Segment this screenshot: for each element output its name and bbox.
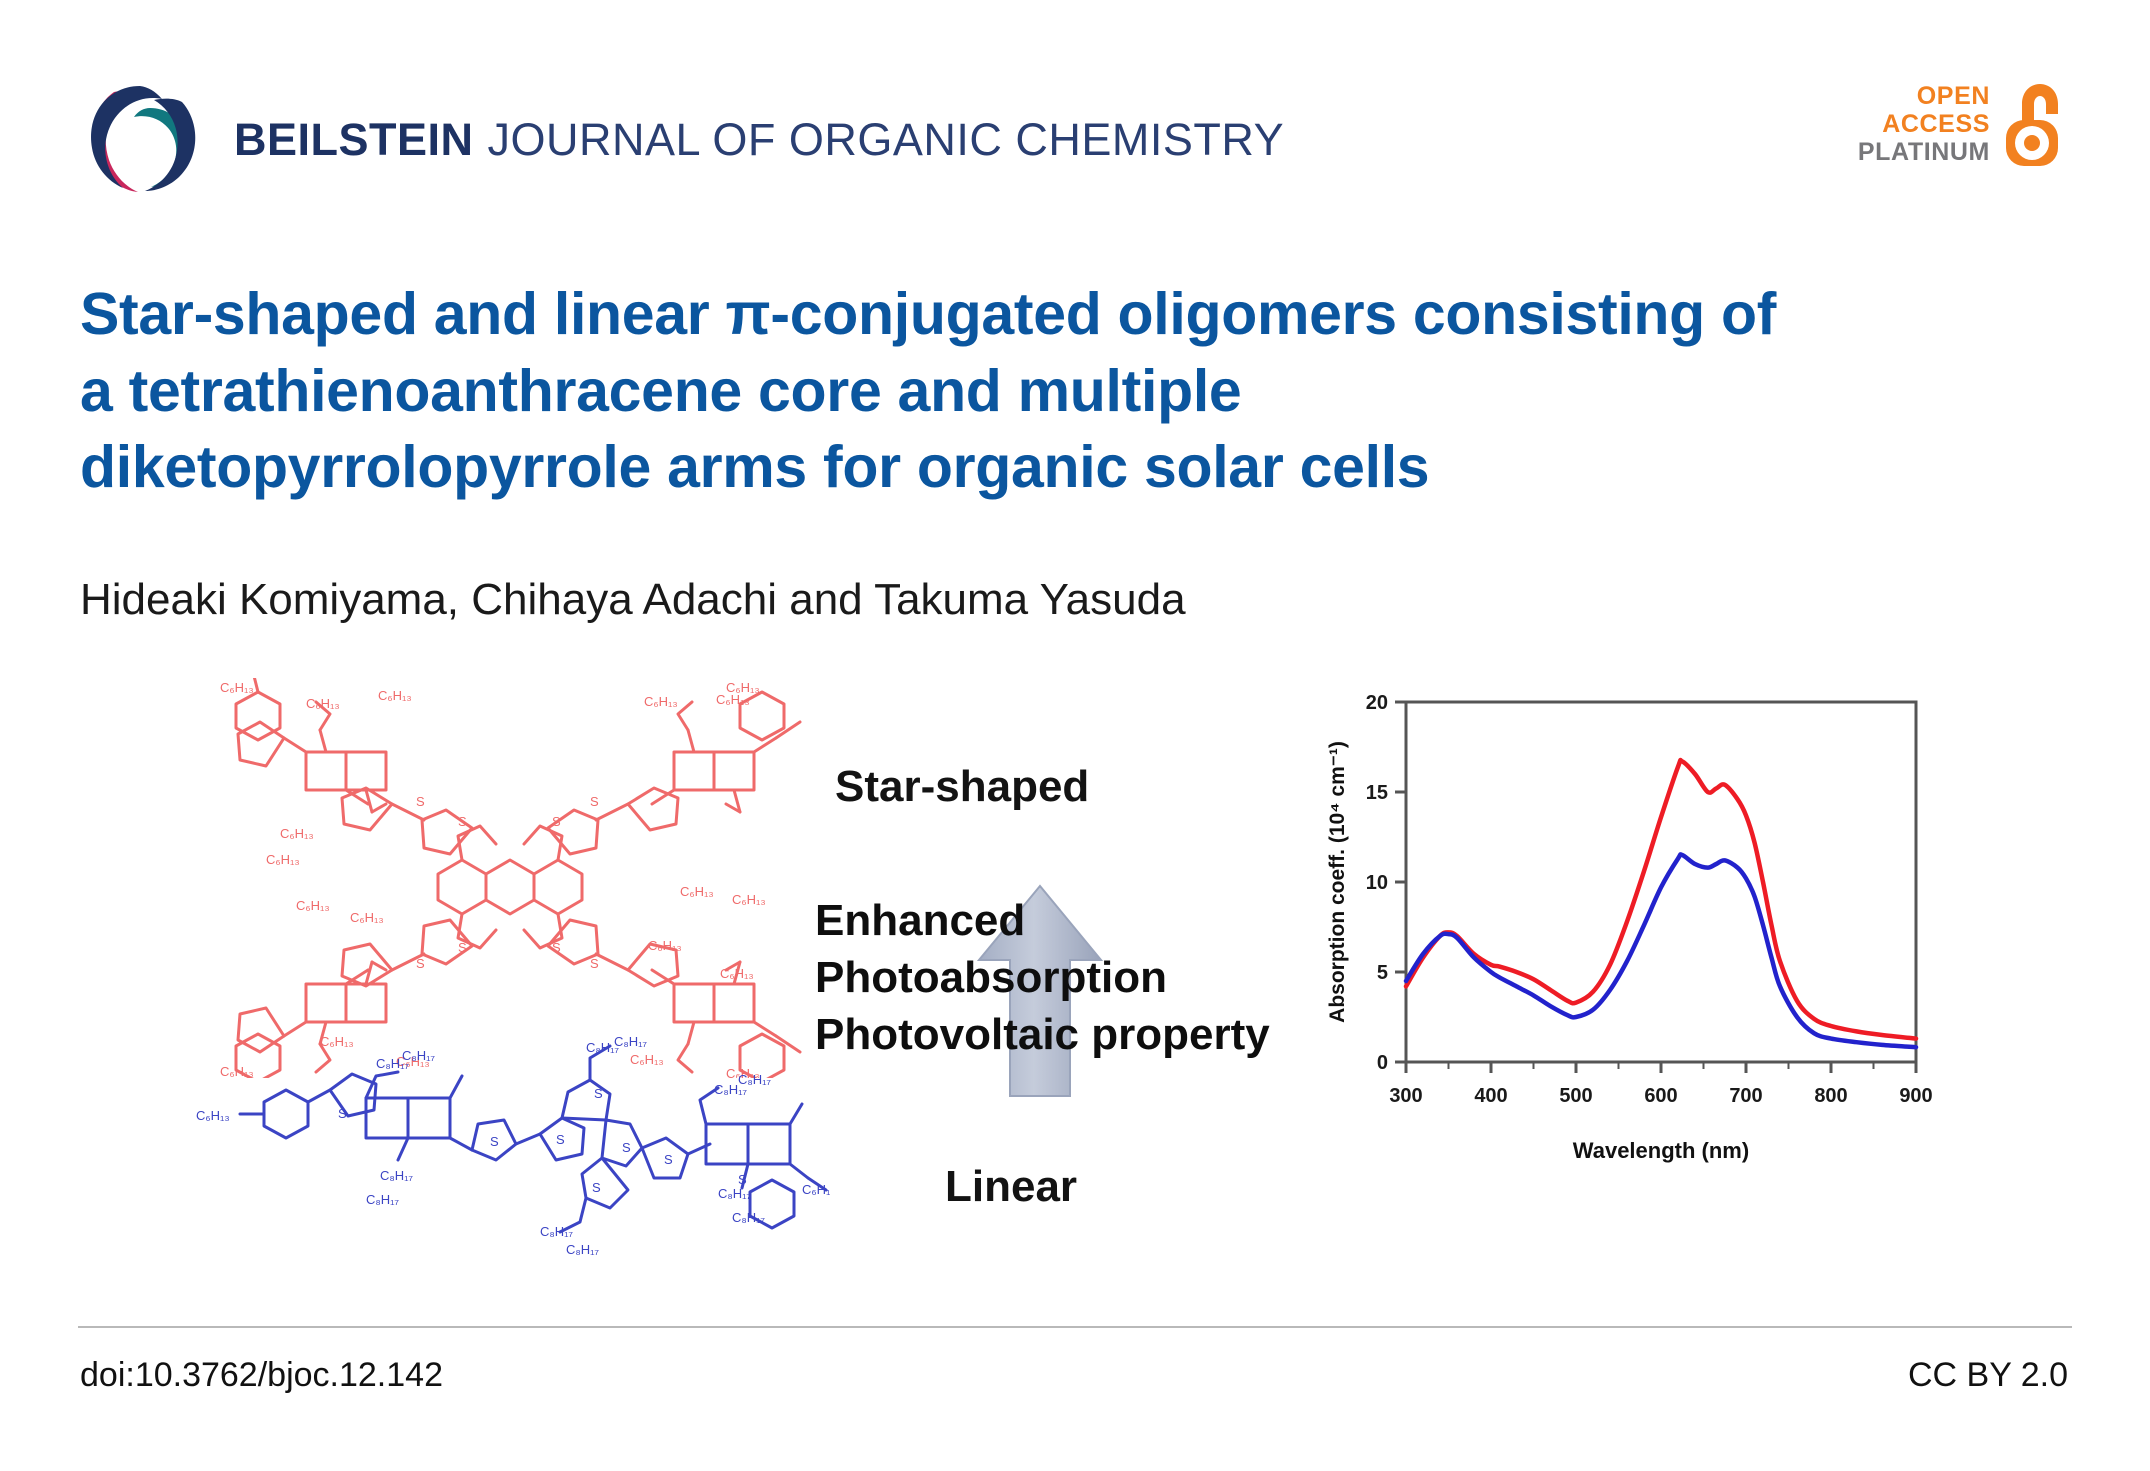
beilstein-logo-icon xyxy=(78,78,206,202)
label-linear: Linear xyxy=(945,1162,1077,1212)
open-access-badge: OPEN ACCESS PLATINUM xyxy=(1858,78,2068,170)
benefit-line-1: Enhanced xyxy=(815,892,1335,949)
svg-text:S: S xyxy=(556,1132,565,1147)
svg-text:C₆H₁₃: C₆H₁₃ xyxy=(378,688,412,703)
molecule-structures-panel: C₆H₁₃C₆H₁₃ C₆H₁₃C₆H₁₃ C₆H₁₃C₆H₁₃ C₆H₁₃C₆… xyxy=(190,672,830,1272)
svg-text:C₆H₁₃: C₆H₁₃ xyxy=(350,910,384,925)
svg-text:S: S xyxy=(622,1140,631,1155)
svg-text:0: 0 xyxy=(1377,1052,1388,1074)
svg-text:S: S xyxy=(664,1152,673,1167)
svg-text:S: S xyxy=(552,814,561,829)
svg-text:C₈H₁₇: C₈H₁₇ xyxy=(614,1034,648,1049)
svg-text:400: 400 xyxy=(1474,1085,1507,1107)
open-access-label-group: OPEN ACCESS PLATINUM xyxy=(1858,82,1990,166)
svg-text:600: 600 xyxy=(1644,1085,1677,1107)
svg-text:C₈H₁₇: C₈H₁₇ xyxy=(732,1210,766,1225)
concept-callout-panel: Star-shaped Enhanced Photoabsorption Pho… xyxy=(820,762,1330,1232)
page-title: Star-shaped and linear π-conjugated olig… xyxy=(80,276,1800,506)
chart-svg: 30040050060070080090005101520 Wavelength… xyxy=(1316,662,1956,1202)
journal-name-light: JOURNAL OF ORGANIC CHEMISTRY xyxy=(488,114,1285,166)
svg-text:S: S xyxy=(738,1172,747,1187)
svg-text:C₆H₁₃: C₆H₁₃ xyxy=(220,680,254,695)
svg-text:S: S xyxy=(552,940,561,955)
svg-text:C₈H₁₇: C₈H₁₇ xyxy=(366,1192,400,1207)
star-shaped-molecule-diagram: C₆H₁₃C₆H₁₃ C₆H₁₃C₆H₁₃ C₆H₁₃C₆H₁₃ C₆H₁₃C₆… xyxy=(210,678,810,1078)
license-text: CC BY 2.0 xyxy=(1908,1356,2068,1395)
svg-text:C₈H₁₇: C₈H₁₇ xyxy=(566,1242,600,1257)
svg-text:S: S xyxy=(592,1180,601,1195)
journal-title-text: BEILSTEIN JOURNAL OF ORGANIC CHEMISTRY xyxy=(234,114,1284,166)
svg-text:10: 10 xyxy=(1366,872,1388,894)
svg-text:300: 300 xyxy=(1389,1085,1422,1107)
svg-text:S: S xyxy=(590,956,599,971)
open-access-line-open: OPEN xyxy=(1917,82,1990,110)
footer-divider xyxy=(78,1326,2072,1328)
svg-text:900: 900 xyxy=(1899,1085,1932,1107)
benefit-line-2: Photoabsorption xyxy=(815,949,1335,1006)
svg-text:C₆H₁₃: C₆H₁₃ xyxy=(720,966,754,981)
svg-text:C₆H₁₃: C₆H₁₃ xyxy=(306,696,340,711)
benefit-line-3: Photovoltaic property xyxy=(815,1006,1335,1063)
absorption-spectrum-chart: 30040050060070080090005101520 Wavelength… xyxy=(1316,662,1956,1202)
benefit-text-block: Enhanced Photoabsorption Photovoltaic pr… xyxy=(815,892,1335,1064)
svg-text:15: 15 xyxy=(1366,782,1388,804)
author-list: Hideaki Komiyama, Chihaya Adachi and Tak… xyxy=(80,575,1186,625)
svg-text:5: 5 xyxy=(1377,962,1388,984)
svg-text:S: S xyxy=(458,814,467,829)
svg-text:700: 700 xyxy=(1729,1085,1762,1107)
graphical-abstract-page: BEILSTEIN JOURNAL OF ORGANIC CHEMISTRY O… xyxy=(0,0,2150,1471)
svg-text:C₆H₁₃: C₆H₁₃ xyxy=(680,884,714,899)
svg-text:C₈H₁₇: C₈H₁₇ xyxy=(402,1048,436,1063)
svg-text:C₆H₁₃: C₆H₁₃ xyxy=(648,938,682,953)
svg-text:800: 800 xyxy=(1814,1085,1847,1107)
svg-text:S: S xyxy=(416,794,425,809)
svg-text:C₆H₁₃: C₆H₁₃ xyxy=(296,898,330,913)
svg-text:C₈H₁₇: C₈H₁₇ xyxy=(540,1224,574,1239)
svg-text:C₆H₁₃: C₆H₁₃ xyxy=(280,826,314,841)
doi-text: doi:10.3762/bjoc.12.142 xyxy=(80,1356,443,1395)
open-access-line-platinum: PLATINUM xyxy=(1858,138,1990,166)
svg-text:C₆H₁₃: C₆H₁₃ xyxy=(716,692,750,707)
plot-border xyxy=(1406,702,1916,1062)
svg-text:S: S xyxy=(338,1106,347,1121)
svg-text:20: 20 xyxy=(1366,692,1388,714)
journal-name-bold: BEILSTEIN xyxy=(234,114,474,166)
linear-molecule-diagram: C₆H₁₃C₈H₁₇ C₈H₁₇C₈H₁₇ C₈H₁₇C₈H₁₇ C₈H₁₇C₈… xyxy=(190,1032,830,1257)
y-axis-label: Absorption coeff. (10⁴ cm⁻¹) xyxy=(1326,741,1349,1023)
svg-text:C₆H₁₃: C₆H₁₃ xyxy=(266,852,300,867)
graphical-abstract-figure: C₆H₁₃C₆H₁₃ C₆H₁₃C₆H₁₃ C₆H₁₃C₆H₁₃ C₆H₁₃C₆… xyxy=(0,672,2150,1272)
svg-text:S: S xyxy=(416,956,425,971)
svg-text:C₈H₁₇: C₈H₁₇ xyxy=(738,1072,772,1087)
svg-text:S: S xyxy=(594,1086,603,1101)
svg-text:S: S xyxy=(458,940,467,955)
svg-text:S: S xyxy=(490,1134,499,1149)
svg-text:500: 500 xyxy=(1559,1085,1592,1107)
svg-text:C₈H₁₇: C₈H₁₇ xyxy=(718,1186,752,1201)
svg-text:C₆H₁₃: C₆H₁₃ xyxy=(196,1108,230,1123)
label-star-shaped: Star-shaped xyxy=(835,762,1089,812)
svg-text:S: S xyxy=(590,794,599,809)
svg-text:C₈H₁₇: C₈H₁₇ xyxy=(380,1168,414,1183)
journal-branding: BEILSTEIN JOURNAL OF ORGANIC CHEMISTRY xyxy=(78,78,1284,202)
x-axis-label: Wavelength (nm) xyxy=(1573,1138,1749,1163)
open-lock-icon xyxy=(2002,78,2068,170)
svg-text:C₆H₁₃: C₆H₁₃ xyxy=(732,892,766,907)
open-access-line-access: ACCESS xyxy=(1882,110,1990,138)
svg-text:C₆H₁₃: C₆H₁₃ xyxy=(644,694,678,709)
page-header: BEILSTEIN JOURNAL OF ORGANIC CHEMISTRY O… xyxy=(0,0,2150,210)
